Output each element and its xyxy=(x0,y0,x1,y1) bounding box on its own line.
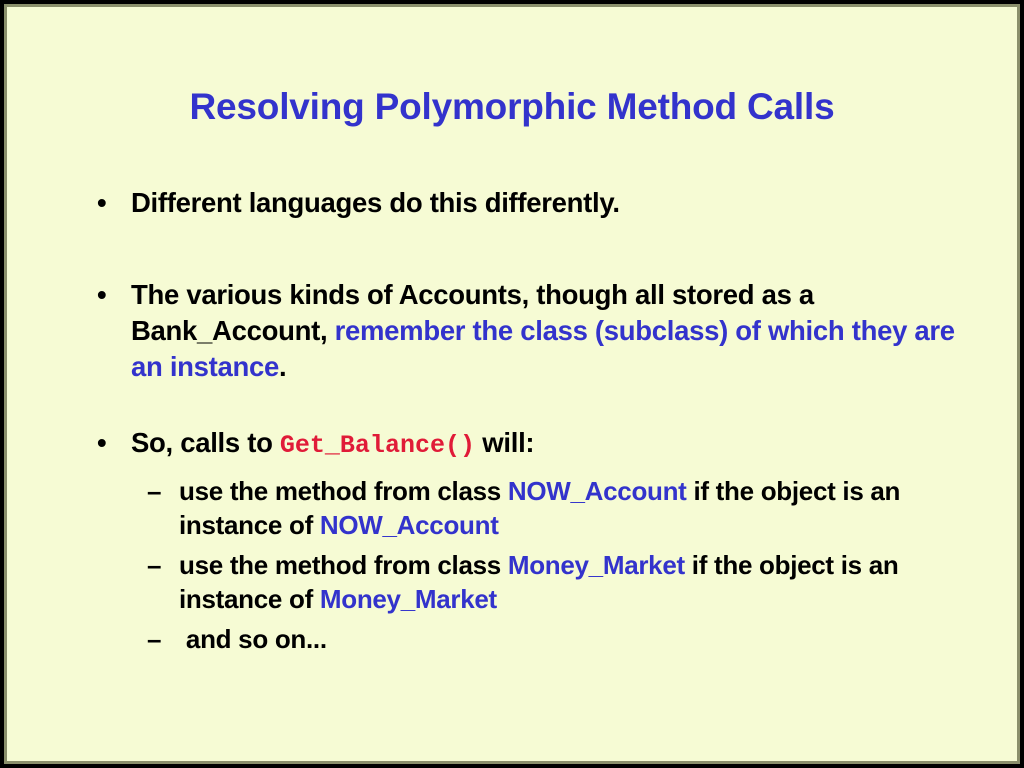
spacer xyxy=(89,385,969,425)
bullet-item-1-text: Different languages do this differently. xyxy=(131,187,620,218)
sub-bullet-item-2-class-b: Money_Market xyxy=(320,584,497,614)
page-title: Resolving Polymorphic Method Calls xyxy=(7,85,1017,129)
sub-bullet-item-1-lead-text: use the method from class xyxy=(179,476,508,506)
spacer xyxy=(89,221,969,277)
sub-bullet-item-2-lead-text: use the method from class xyxy=(179,550,508,580)
bullet-item-3: •So, calls to Get_Balance() will: xyxy=(89,425,969,464)
bullet-item-2-tail-text: . xyxy=(279,351,286,382)
slide-canvas: Resolving Polymorphic Method Calls • Dif… xyxy=(7,7,1017,761)
dash-marker-icon: – xyxy=(147,622,161,656)
bullet-marker-icon: • xyxy=(97,425,106,461)
sub-bullet-item-1-class-b: NOW_Account xyxy=(320,510,499,540)
spacer xyxy=(89,464,969,474)
slide-frame-border: Resolving Polymorphic Method Calls • Dif… xyxy=(4,4,1020,764)
sub-bullet-item-3: – and so on... xyxy=(89,622,969,656)
bullet-item-3-lead-text: So, calls to xyxy=(131,427,280,458)
bullet-marker-icon: • xyxy=(97,185,106,221)
bullet-item-1: • Different languages do this differentl… xyxy=(89,185,969,221)
dash-marker-icon: – xyxy=(147,548,161,582)
sub-bullet-item-1-class-a: NOW_Account xyxy=(508,476,687,506)
sub-bullet-item-3-text: and so on... xyxy=(179,624,327,654)
slide-body: • Different languages do this differentl… xyxy=(89,185,969,656)
sub-bullet-item-1: –use the method from class NOW_Account i… xyxy=(89,474,969,542)
bullet-item-2: •The various kinds of Accounts, though a… xyxy=(89,277,969,385)
bullet-marker-icon: • xyxy=(97,277,106,313)
bullet-item-3-code-text: Get_Balance() xyxy=(280,431,475,460)
sub-bullet-item-2: –use the method from class Money_Market … xyxy=(89,548,969,616)
sub-bullet-item-2-class-a: Money_Market xyxy=(508,550,685,580)
bullet-item-3-tail-text: will: xyxy=(475,427,534,458)
dash-marker-icon: – xyxy=(147,474,161,508)
slide-frame: Resolving Polymorphic Method Calls • Dif… xyxy=(0,0,1024,768)
